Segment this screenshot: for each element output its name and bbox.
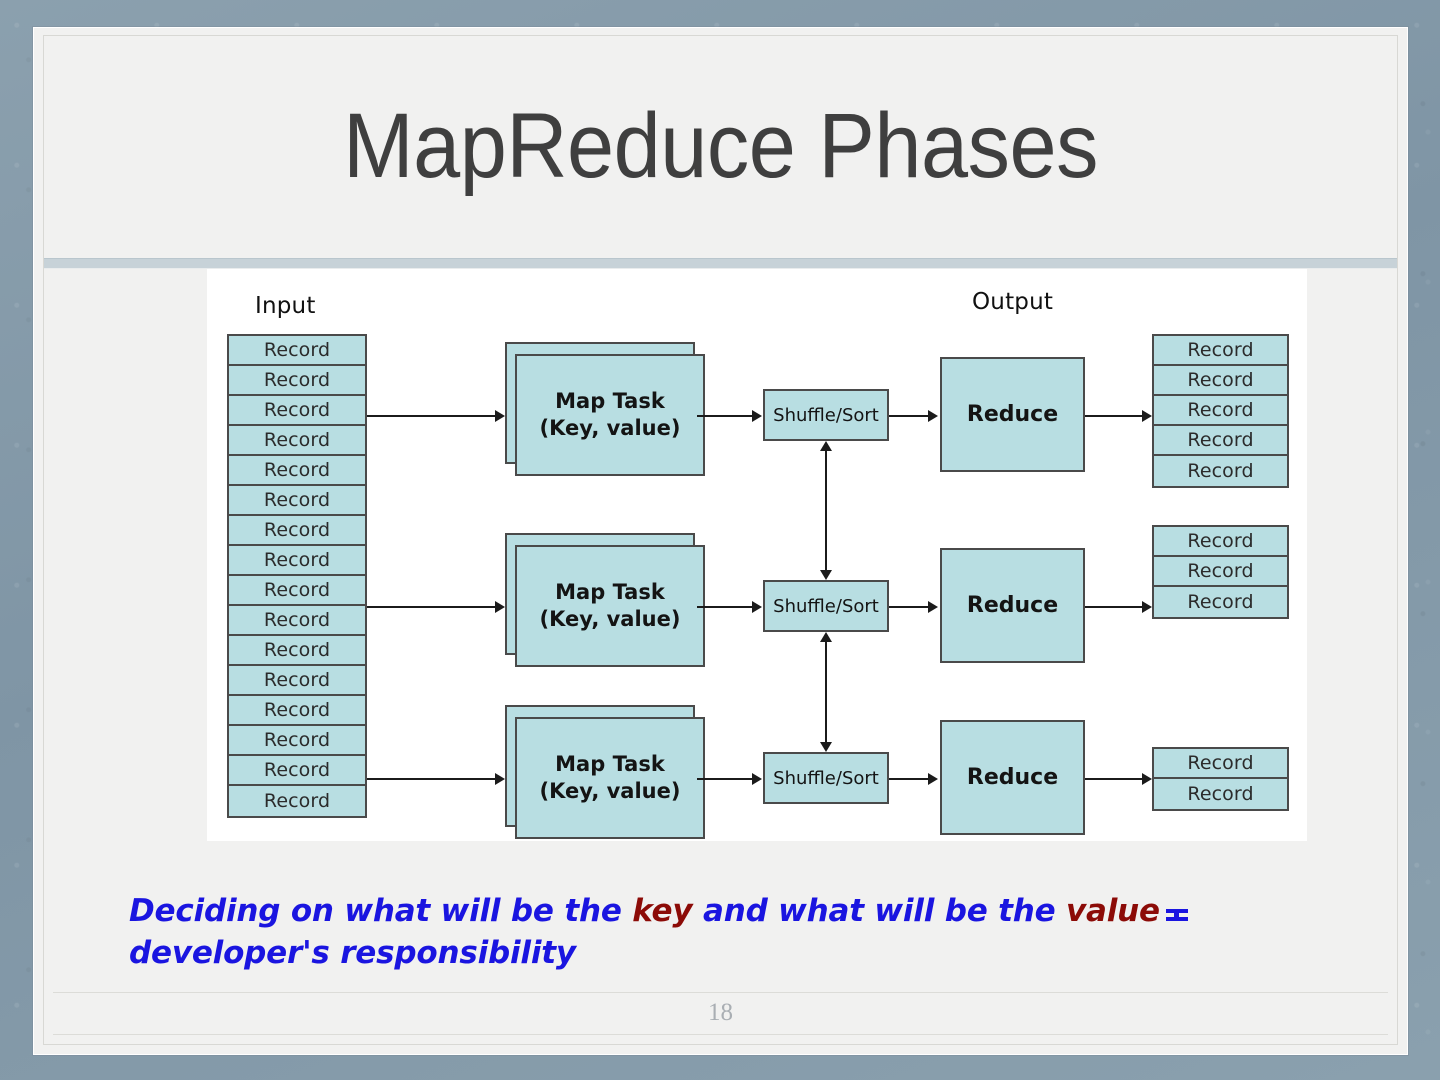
slide-card: MapReduce Phases Input Output Record Rec… [33,27,1408,1055]
map-task-subtitle: (Key, value) [540,778,681,805]
arrow-reduce-to-output-2 [1085,606,1145,608]
arrow-shuffle-to-reduce-3 [889,778,931,780]
arrow-shuffle-to-reduce-1 [889,415,931,417]
reduce-1: Reduce [940,357,1085,472]
list-item: Record [229,396,365,426]
arrow-reduce-to-output-3 [1085,778,1145,780]
reduce-label: Reduce [967,402,1058,427]
list-item: Record [229,576,365,606]
list-item: Record [1154,366,1287,396]
shuffle-sort-label: Shuffle/Sort [773,596,879,617]
shuffle-sort-1: Shuffle/Sort [763,389,889,441]
arrow-head-icon [752,410,762,422]
list-item: Record [1154,749,1287,779]
caption-part-1: Deciding on what will be the [129,893,632,929]
output-record-stack-1: Record Record Record Record Record [1152,334,1289,488]
list-item: Record [1154,527,1287,557]
reduce-2: Reduce [940,548,1085,663]
mapreduce-diagram: Input Output Record Record Record Record… [207,269,1307,841]
caption-part-3: developer's responsibility [129,935,576,971]
list-item: Record [1154,336,1287,366]
arrow-head-icon [928,410,938,422]
map-task-subtitle: (Key, value) [540,606,681,633]
arrow-map-to-shuffle-1 [697,415,755,417]
shuffle-sort-3: Shuffle/Sort [763,752,889,804]
arrow-head-icon [1142,773,1152,785]
arrow-head-icon [820,570,832,580]
connector-shuffle-1-2 [825,447,827,575]
footer-divider-bottom [53,1034,1388,1035]
list-item: Record [229,636,365,666]
list-item: Record [229,516,365,546]
arrow-input-to-map-1 [367,415,497,417]
map-task-title: Map Task [555,388,665,415]
arrow-head-icon [820,742,832,752]
list-item: Record [229,756,365,786]
list-item: Record [1154,779,1287,809]
page-number: 18 [44,999,1397,1027]
list-item: Record [229,606,365,636]
connector-shuffle-2-3 [825,638,827,747]
map-task-front-card: Map Task (Key, value) [515,545,705,667]
arrow-map-to-shuffle-3 [697,778,755,780]
list-item: Record [229,456,365,486]
list-item: Record [1154,587,1287,617]
list-item: Record [229,696,365,726]
list-item: Record [229,726,365,756]
list-item: Record [229,546,365,576]
input-label: Input [255,293,316,319]
reduce-3: Reduce [940,720,1085,835]
list-item: Record [1154,396,1287,426]
list-item: Record [1154,456,1287,486]
shuffle-sort-label: Shuffle/Sort [773,405,879,426]
page-title: MapReduce Phases [98,98,1343,195]
map-task-subtitle: (Key, value) [540,415,681,442]
caption-part-2: and what will be the [692,893,1066,929]
arrow-head-icon [1142,410,1152,422]
arrow-head-icon [495,410,505,422]
footer-divider-top [53,992,1388,993]
caption-value-highlight: value [1066,893,1160,929]
arrow-head-icon [820,441,832,451]
arrow-head-icon [928,773,938,785]
title-divider [44,258,1397,269]
output-label: Output [972,289,1053,315]
list-item: Record [229,336,365,366]
reduce-label: Reduce [967,593,1058,618]
arrow-shuffle-to-reduce-2 [889,606,931,608]
title-area: MapReduce Phases [44,36,1397,258]
shuffle-sort-label: Shuffle/Sort [773,768,879,789]
list-item: Record [229,426,365,456]
output-record-stack-3: Record Record [1152,747,1289,811]
map-task-front-card: Map Task (Key, value) [515,717,705,839]
map-task-front-card: Map Task (Key, value) [515,354,705,476]
arrow-input-to-map-3 [367,778,497,780]
arrow-head-icon [752,773,762,785]
caption-text: Deciding on what will be the key and wha… [129,891,1309,975]
list-item: Record [229,486,365,516]
list-item: Record [229,786,365,816]
arrow-head-icon [820,632,832,642]
list-item: Record [229,366,365,396]
slide-inner-frame: MapReduce Phases Input Output Record Rec… [43,35,1398,1045]
output-record-stack-2: Record Record Record [1152,525,1289,619]
caption-key-highlight: key [632,893,692,929]
list-item: Record [229,666,365,696]
arrow-input-to-map-2 [367,606,497,608]
arrow-head-icon [495,773,505,785]
list-item: Record [1154,426,1287,456]
broken-glyph-icon [1166,907,1188,922]
map-task-title: Map Task [555,751,665,778]
shuffle-sort-2: Shuffle/Sort [763,580,889,632]
reduce-label: Reduce [967,765,1058,790]
input-record-stack: Record Record Record Record Record Recor… [227,334,367,818]
arrow-map-to-shuffle-2 [697,606,755,608]
arrow-head-icon [1142,601,1152,613]
arrow-reduce-to-output-1 [1085,415,1145,417]
arrow-head-icon [928,601,938,613]
arrow-head-icon [495,601,505,613]
list-item: Record [1154,557,1287,587]
map-task-title: Map Task [555,579,665,606]
arrow-head-icon [752,601,762,613]
